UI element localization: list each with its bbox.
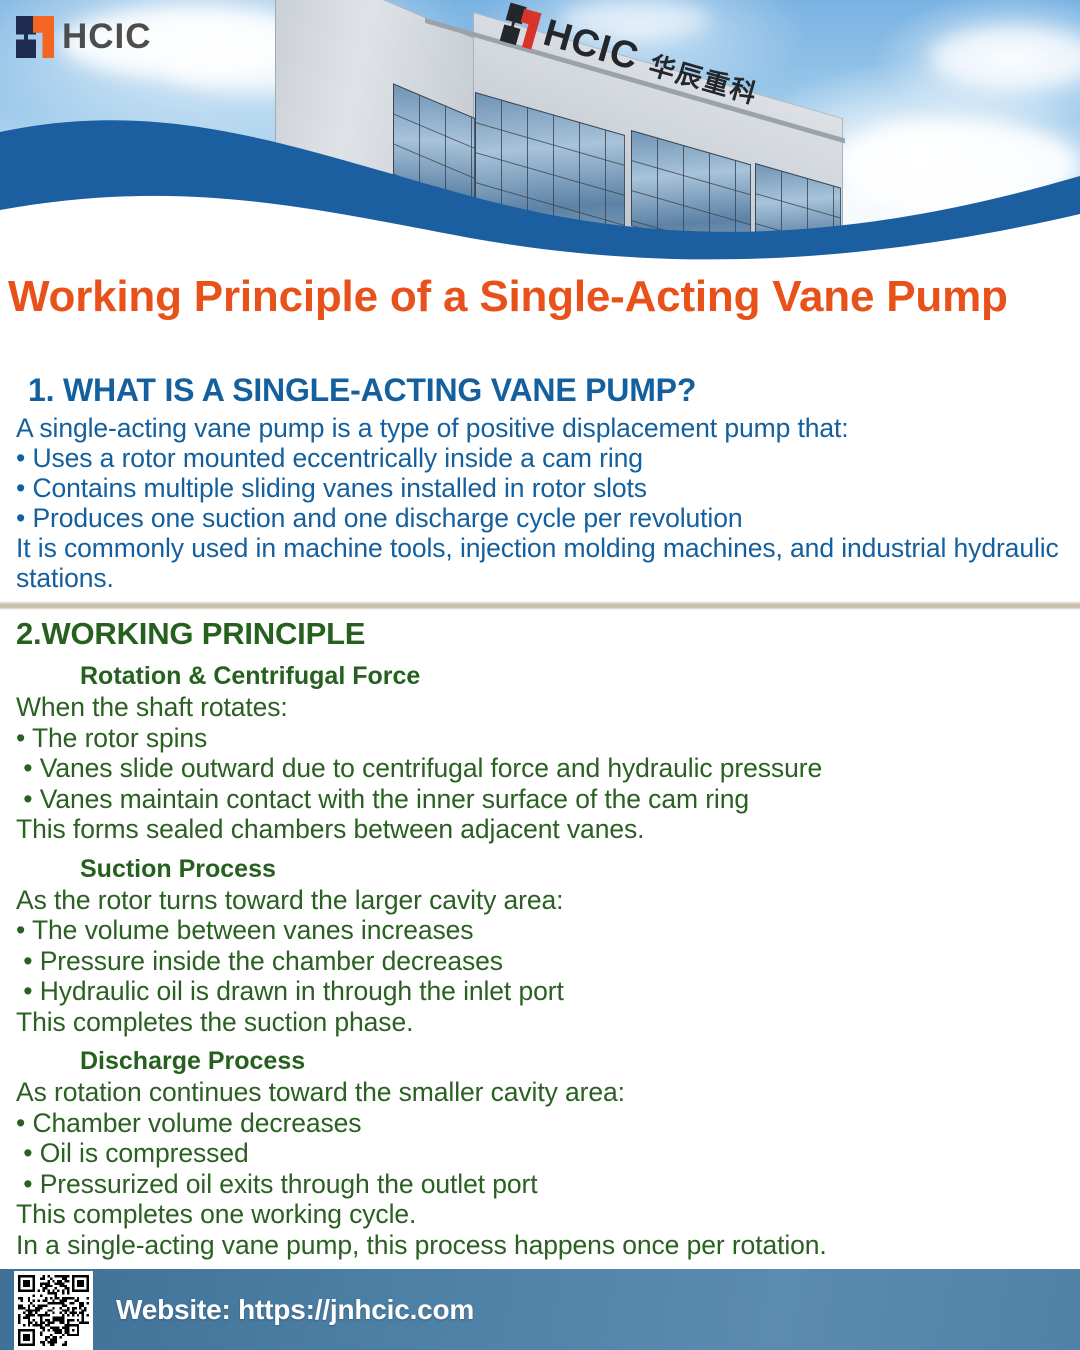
qr-code[interactable]: [14, 1271, 93, 1350]
block-suction-process: Suction Process As the rotor turns towar…: [0, 855, 1080, 1038]
page-title: Working Principle of a Single-Acting Van…: [8, 272, 1080, 322]
hcic-logo: HCIC: [16, 16, 152, 58]
block-body: As rotation continues toward the smaller…: [16, 1077, 1080, 1260]
section-divider: [0, 601, 1080, 610]
block-discharge-process: Discharge Process As rotation continues …: [0, 1047, 1080, 1260]
section1-body: A single-acting vane pump is a type of p…: [16, 413, 1080, 593]
section-what-is-a-single-acting-vane-pump: 1. WHAT IS A SINGLE-ACTING VANE PUMP? A …: [0, 372, 1080, 593]
hcic-logo-mark-icon: [16, 16, 54, 58]
hero-banner: HCIC 华辰重科 HCIC: [0, 0, 1080, 262]
block-rotation-centrifugal-force: Rotation & Centrifugal Force When the sh…: [0, 662, 1080, 845]
subheading: Rotation & Centrifugal Force: [80, 662, 1080, 691]
section2-heading: 2.WORKING PRINCIPLE: [16, 616, 1080, 652]
block-body: As the rotor turns toward the larger cav…: [16, 885, 1080, 1038]
hcic-logo-text: HCIC: [62, 17, 152, 57]
website-label[interactable]: Website: https://jnhcic.com: [116, 1294, 474, 1326]
section-working-principle: 2.WORKING PRINCIPLE Rotation & Centrifug…: [0, 616, 1080, 1260]
block-body: When the shaft rotates: • The rotor spin…: [16, 692, 1080, 845]
footer-bar: Website: https://jnhcic.com: [0, 1269, 1080, 1350]
qr-code-icon: [18, 1275, 89, 1346]
subheading: Discharge Process: [80, 1047, 1080, 1076]
subheading: Suction Process: [80, 855, 1080, 884]
blue-wave-divider: [0, 0, 1080, 262]
section1-heading: 1. WHAT IS A SINGLE-ACTING VANE PUMP?: [28, 372, 1080, 409]
